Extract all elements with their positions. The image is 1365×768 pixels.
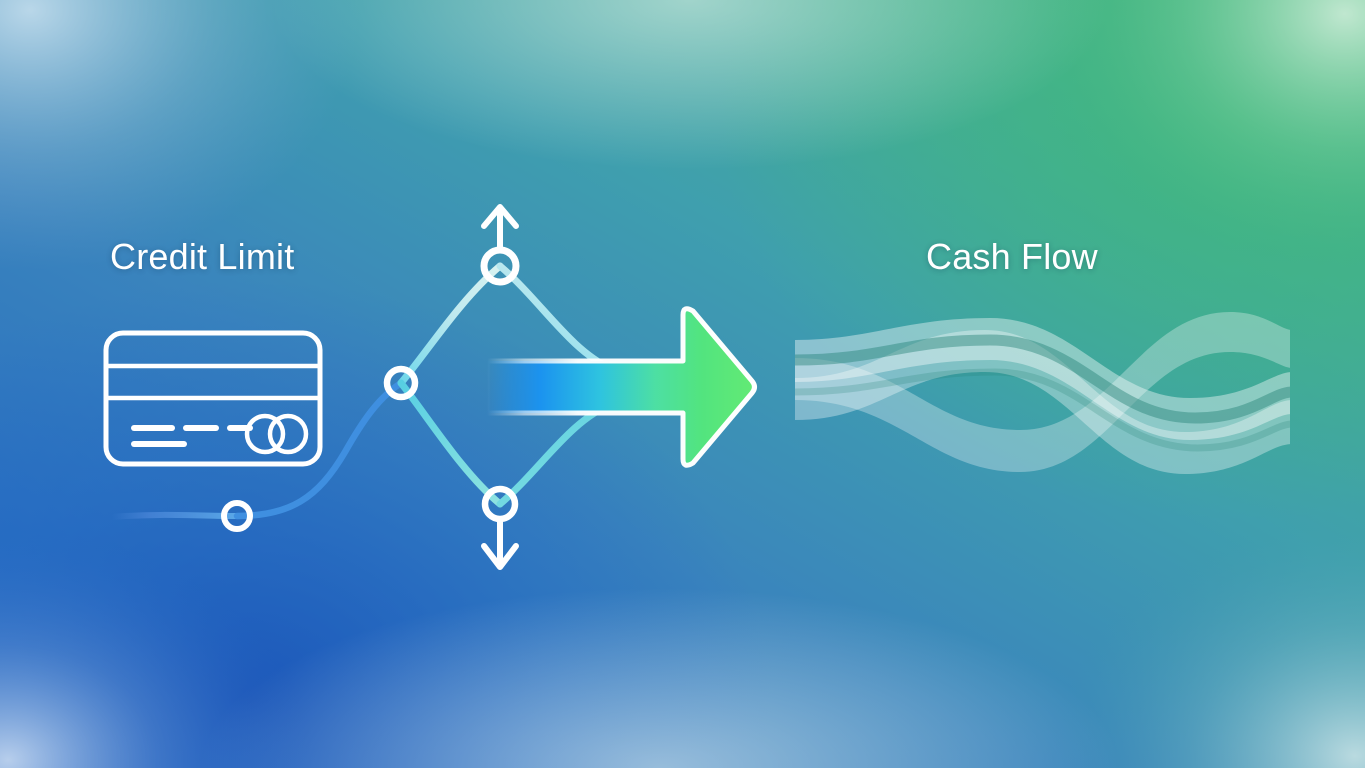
page-label-cash-flow: Cash Flow <box>926 236 1098 278</box>
cash-flow-waves <box>795 312 1292 474</box>
illustration-canvas: Credit Limit Cash Flow <box>0 0 1365 768</box>
trend-up-arrow-icon <box>484 207 516 250</box>
trend-down-arrow-icon <box>484 519 516 567</box>
illustration-artwork <box>0 0 1365 768</box>
credit-card-icon <box>106 333 320 464</box>
flow-arrow-icon[interactable] <box>487 309 755 466</box>
card-network-circles <box>247 416 306 452</box>
page-label-credit-limit: Credit Limit <box>110 236 294 278</box>
flow-line-incoming <box>112 515 237 517</box>
